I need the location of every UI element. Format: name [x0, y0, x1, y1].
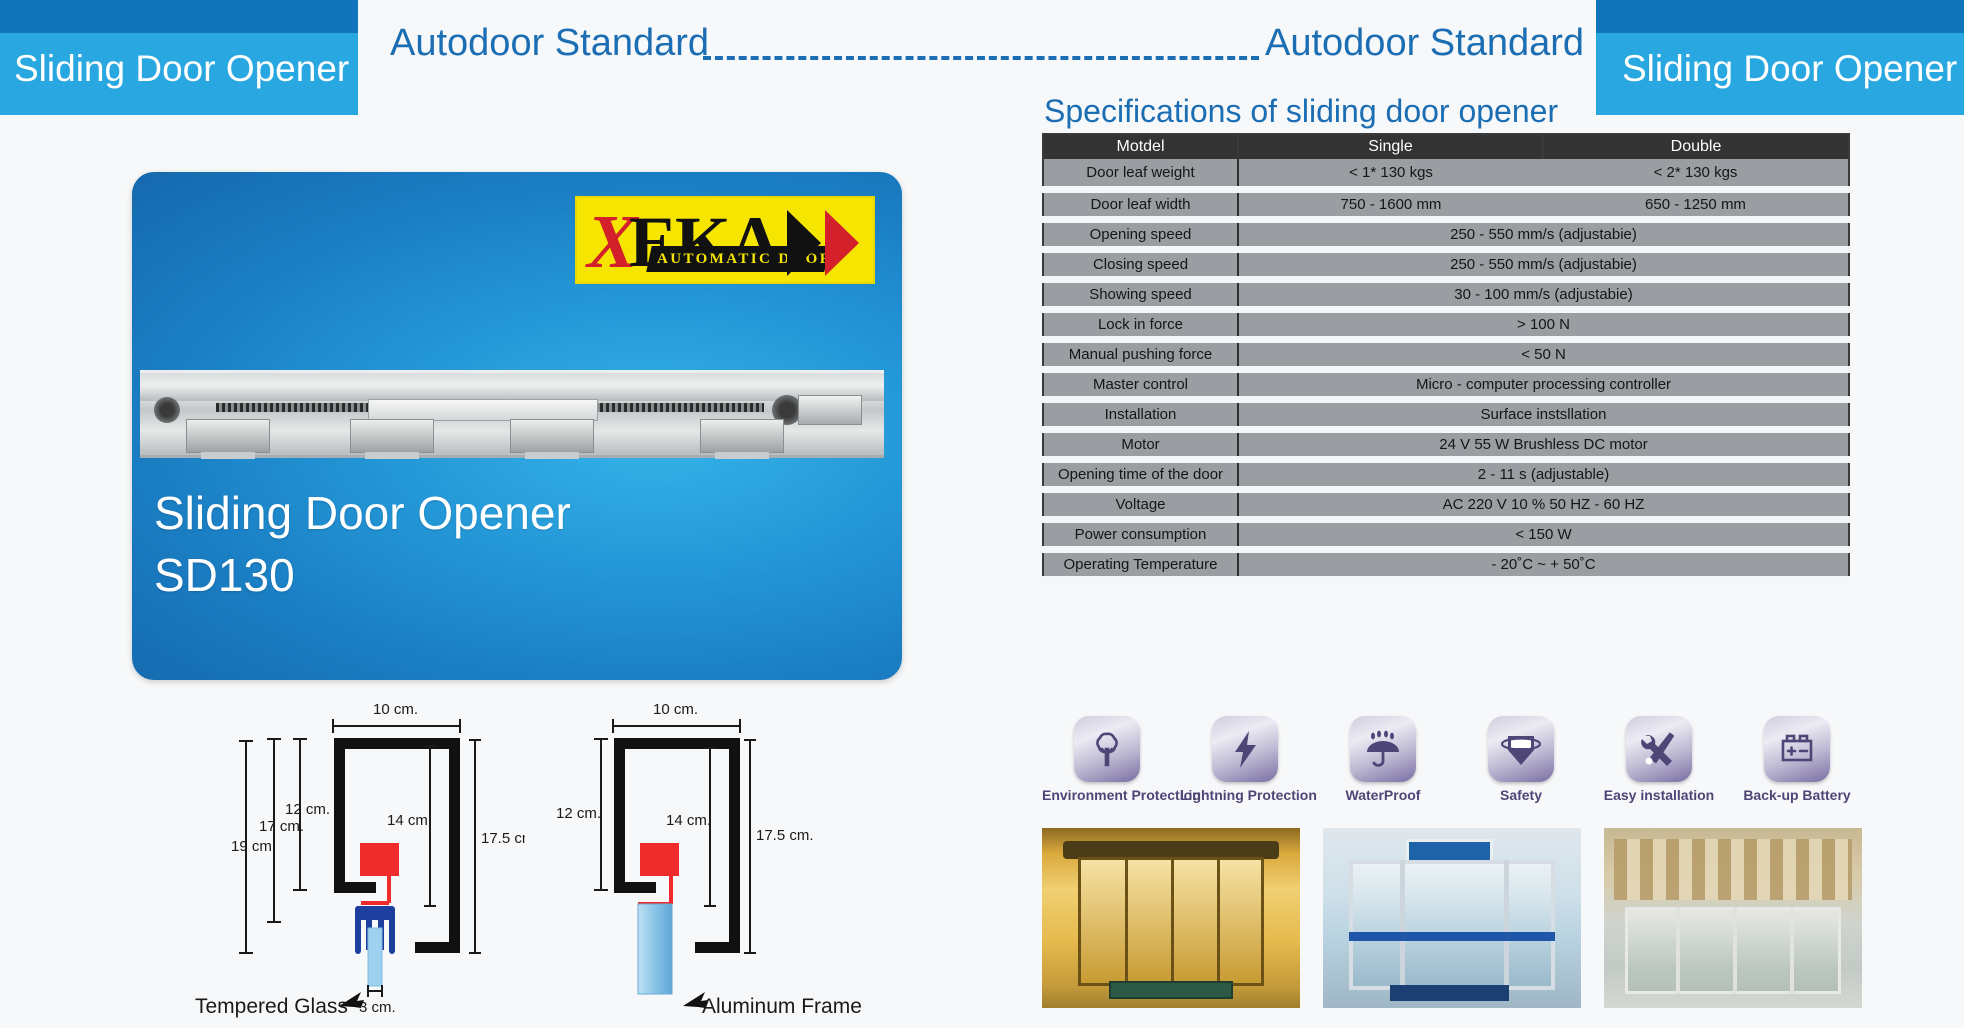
- feature-icon-row: Environment Protection Lightning Protect…: [1042, 716, 1862, 820]
- header-dashed-divider: [703, 56, 1259, 60]
- umbrella-rain-icon: [1350, 716, 1416, 782]
- sliding-door-mechanism-photo: [140, 370, 884, 458]
- dim-inner-14-label: 14 cm.: [666, 812, 711, 829]
- table-cell-label: Master control: [1043, 369, 1238, 399]
- table-cell-value: Surface instsllation: [1238, 399, 1849, 429]
- dim-right-line: [469, 740, 481, 953]
- header-tab-left-cap: [0, 0, 358, 33]
- product-card: X EKA AUTOMATIC DOOR Sliding Door Opener…: [132, 172, 902, 680]
- diagram-tempered-glass: 10 cm.: [195, 688, 525, 1018]
- photo2-floor-mat: [1390, 985, 1509, 1001]
- dim-top-width-line: [613, 719, 740, 733]
- dim-left-12-label: 12 cm.: [285, 801, 330, 818]
- table-header-row: Motdel Single Double: [1043, 134, 1849, 159]
- actuator-block: [640, 843, 679, 876]
- product-card-model: SD130: [154, 544, 295, 606]
- photo1-floor-mat: [1109, 981, 1233, 999]
- table-cell-label: Power consumption: [1043, 519, 1238, 549]
- dim-thickness-line: [368, 985, 382, 997]
- photo1-mullion: [1125, 857, 1128, 987]
- table-row: Lock in force> 100 N: [1043, 309, 1849, 339]
- table-row: Operating Temperature- 20˚C ~ + 50˚C: [1043, 549, 1849, 579]
- photo3-mullion: [1790, 907, 1794, 993]
- feature-label: Easy installation: [1594, 786, 1724, 804]
- table-row: VoltageAC 220 V 10 % 50 HZ - 60 HZ: [1043, 489, 1849, 519]
- mechanism-motor-box: [798, 395, 862, 425]
- table-cell-label: Lock in force: [1043, 309, 1238, 339]
- table-row: Door leaf weight< 1* 130 kgs< 2* 130 kgs: [1043, 159, 1849, 189]
- dim-top-width-line: [333, 719, 460, 733]
- mechanism-carrier: [186, 419, 270, 453]
- table-cell-value: 250 - 550 mm/s (adjustabie): [1238, 249, 1849, 279]
- aluminum-frame-bar: [638, 904, 672, 994]
- specifications-title: Specifications of sliding door opener: [1044, 93, 1558, 130]
- photo1-mullion: [1217, 857, 1220, 987]
- photo-golden-lobby-door: [1042, 828, 1300, 1008]
- table-cell-label: Installation: [1043, 399, 1238, 429]
- header-title-left: Autodoor Standard: [390, 22, 709, 65]
- table-cell-label: Closing speed: [1043, 249, 1238, 279]
- feature-label: Environment Protection: [1042, 786, 1172, 804]
- dim-left-12-label: 12 cm.: [556, 805, 601, 822]
- table-row: Showing speed30 - 100 mm/s (adjustabie): [1043, 279, 1849, 309]
- logo-chevron-red-icon: [825, 210, 859, 276]
- dim-left-19-label: 19 cm.: [231, 838, 276, 855]
- table-cell-label: Motor: [1043, 429, 1238, 459]
- feature-easy-installation: Easy installation: [1594, 716, 1724, 804]
- photo2-door-frame: [1349, 860, 1555, 990]
- photo2-blue-band: [1349, 932, 1555, 941]
- table-cell-double: 650 - 1250 mm: [1543, 189, 1849, 219]
- table-row: Door leaf width750 - 1600 mm650 - 1250 m…: [1043, 189, 1849, 219]
- table-row: Closing speed250 - 550 mm/s (adjustabie): [1043, 249, 1849, 279]
- table-cell-value: 30 - 100 mm/s (adjustabie): [1238, 279, 1849, 309]
- application-photo-row: [1042, 828, 1862, 1008]
- diagram-aluminum-frame: 10 cm.: [550, 688, 885, 1018]
- table-row: Opening speed250 - 550 mm/s (adjustabie): [1043, 219, 1849, 249]
- table-cell-label: Opening speed: [1043, 219, 1238, 249]
- table-cell-label: Voltage: [1043, 489, 1238, 519]
- table-cell-label: Opening time of the door: [1043, 459, 1238, 489]
- photo-building-glass-doors: [1604, 828, 1862, 1008]
- table-row: Manual pushing force< 50 N: [1043, 339, 1849, 369]
- photo3-mullion: [1676, 907, 1680, 993]
- dim-left-17-label: 17 cm.: [259, 818, 304, 835]
- table-cell-value: > 100 N: [1238, 309, 1849, 339]
- table-cell-single: < 1* 130 kgs: [1238, 159, 1543, 189]
- shield-icon: [1488, 716, 1554, 782]
- table-cell-value: - 20˚C ~ + 50˚C: [1238, 549, 1849, 579]
- mechanism-carrier: [510, 419, 594, 453]
- table-cell-value: 24 V 55 W Brushless DC motor: [1238, 429, 1849, 459]
- header-tab-right-label: Sliding Door Opener: [1596, 40, 1964, 98]
- table-cell-label: Showing speed: [1043, 279, 1238, 309]
- photo2-mullion: [1504, 860, 1509, 990]
- table-cell-value: < 50 N: [1238, 339, 1849, 369]
- header-tab-right: Sliding Door Opener: [1596, 0, 1964, 115]
- table-row: Motor24 V 55 W Brushless DC motor: [1043, 429, 1849, 459]
- mechanism-pulley-left: [154, 397, 180, 423]
- battery-icon: [1764, 716, 1830, 782]
- dim-right-175-label: 17.5 cm.: [481, 830, 525, 847]
- feature-safety: Safety: [1456, 716, 1586, 804]
- photo3-mullion: [1733, 907, 1737, 993]
- table-row: Opening time of the door2 - 11 s (adjust…: [1043, 459, 1849, 489]
- wrench-hammer-icon: [1626, 716, 1692, 782]
- actuator-block: [360, 843, 399, 876]
- table-cell-label: Operating Temperature: [1043, 549, 1238, 579]
- mechanism-controller-box: [368, 399, 598, 421]
- feature-backup-battery: Back-up Battery: [1732, 716, 1862, 804]
- table-cell-label: Door leaf width: [1043, 189, 1238, 219]
- logo-chevron-black-icon: [787, 210, 821, 276]
- table-row: Power consumption< 150 W: [1043, 519, 1849, 549]
- xeka-logo: X EKA AUTOMATIC DOOR: [575, 196, 875, 284]
- dim-inner-14-label: 14 cm.: [387, 812, 432, 829]
- photo3-building-reflection: [1614, 839, 1851, 900]
- feature-label: Lightning Protection: [1180, 786, 1310, 804]
- product-card-title: Sliding Door Opener: [154, 482, 571, 544]
- table-cell-double: < 2* 130 kgs: [1543, 159, 1849, 189]
- header-tab-left-label: Sliding Door Opener: [0, 40, 358, 98]
- diagram-caption-glass: Tempered Glass: [195, 995, 348, 1018]
- header-tab-left: Sliding Door Opener: [0, 0, 358, 115]
- header-title-right: Autodoor Standard: [1265, 22, 1584, 65]
- table-cell-value: 2 - 11 s (adjustable): [1238, 459, 1849, 489]
- dim-top-width-label: 10 cm.: [653, 701, 698, 718]
- photo-glass-entrance-blue-sign: [1323, 828, 1581, 1008]
- feature-label: WaterProof: [1318, 786, 1448, 804]
- lightning-bolt-icon: [1212, 716, 1278, 782]
- dim-thickness-label: 3 cm.: [359, 999, 396, 1016]
- mechanism-carrier: [350, 419, 434, 453]
- table-header-single: Single: [1238, 134, 1543, 159]
- header-tab-right-cap: [1596, 0, 1964, 33]
- feature-environment-protection: Environment Protection: [1042, 716, 1172, 804]
- dim-top-width-label: 10 cm.: [373, 701, 418, 718]
- table-header-double: Double: [1543, 134, 1849, 159]
- photo2-mullion: [1400, 860, 1405, 990]
- diagram-caption-alum: Aluminum Frame: [702, 995, 862, 1018]
- dim-right-line: [744, 740, 756, 953]
- table-cell-label: Door leaf weight: [1043, 159, 1238, 189]
- feature-waterproof: WaterProof: [1318, 716, 1448, 804]
- table-cell-value: < 150 W: [1238, 519, 1849, 549]
- feature-lightning-protection: Lightning Protection: [1180, 716, 1310, 804]
- table-cell-single: 750 - 1600 mm: [1238, 189, 1543, 219]
- mechanism-carrier: [700, 419, 784, 453]
- table-cell-label: Manual pushing force: [1043, 339, 1238, 369]
- tree-icon: [1074, 716, 1140, 782]
- feature-label: Safety: [1456, 786, 1586, 804]
- photo1-mullion: [1171, 857, 1174, 987]
- table-cell-value: 250 - 550 mm/s (adjustabie): [1238, 219, 1849, 249]
- specifications-table: Motdel Single Double Door leaf weight< 1…: [1042, 133, 1850, 583]
- table-cell-value: Micro - computer processing controller: [1238, 369, 1849, 399]
- table-row: Master controlMicro - computer processin…: [1043, 369, 1849, 399]
- tempered-glass-pane: [368, 928, 382, 986]
- table-cell-value: AC 220 V 10 % 50 HZ - 60 HZ: [1238, 489, 1849, 519]
- table-header-model: Motdel: [1043, 134, 1238, 159]
- table-row: InstallationSurface instsllation: [1043, 399, 1849, 429]
- poster-page: Sliding Door Opener Autodoor Standard Au…: [0, 0, 1964, 1028]
- feature-label: Back-up Battery: [1732, 786, 1862, 804]
- dim-right-175-label: 17.5 cm.: [756, 827, 814, 844]
